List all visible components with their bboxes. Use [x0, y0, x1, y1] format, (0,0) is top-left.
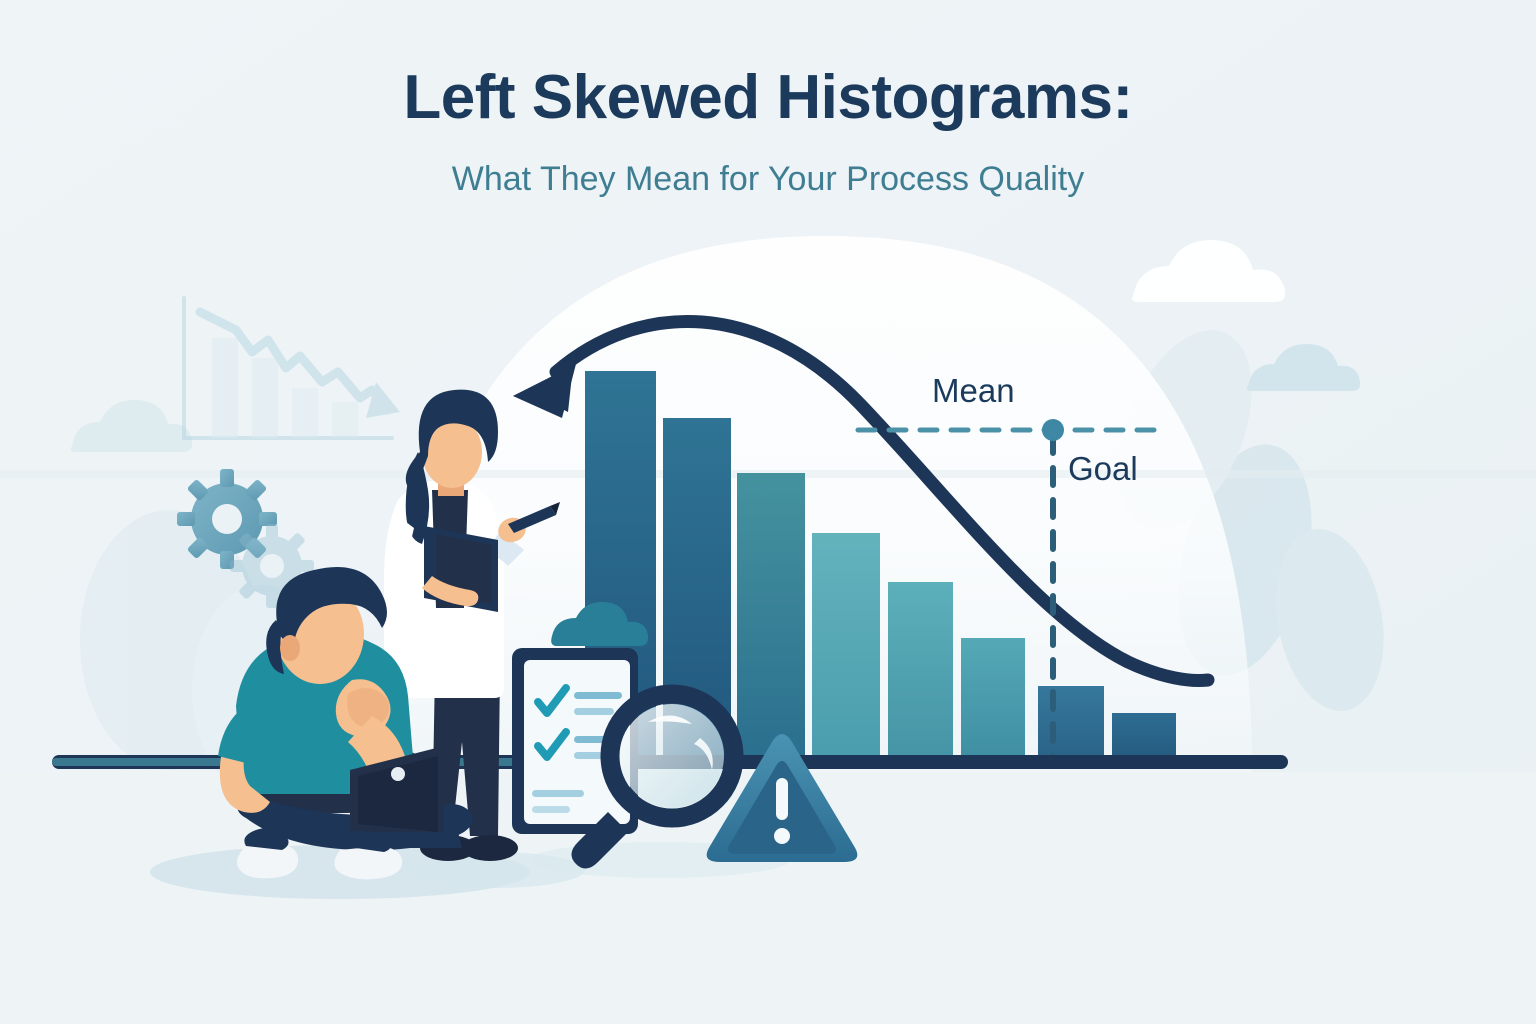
histogram-bar	[1038, 686, 1104, 761]
histogram-bar	[1112, 713, 1176, 761]
page-subtitle: What They Mean for Your Process Quality	[0, 160, 1536, 199]
illustration-canvas: Left Skewed Histograms: What They Mean f…	[0, 0, 1536, 1024]
mean-label: Mean	[932, 372, 1015, 410]
scene-artwork	[0, 0, 1536, 1024]
mean-goal-marker-dot	[1042, 419, 1064, 441]
histogram-bar	[812, 533, 880, 761]
histogram-bar	[961, 638, 1025, 761]
histogram-bar	[737, 473, 805, 761]
page-title: Left Skewed Histograms:	[0, 62, 1536, 133]
histogram-bar	[888, 582, 953, 761]
goal-label: Goal	[1068, 450, 1138, 488]
